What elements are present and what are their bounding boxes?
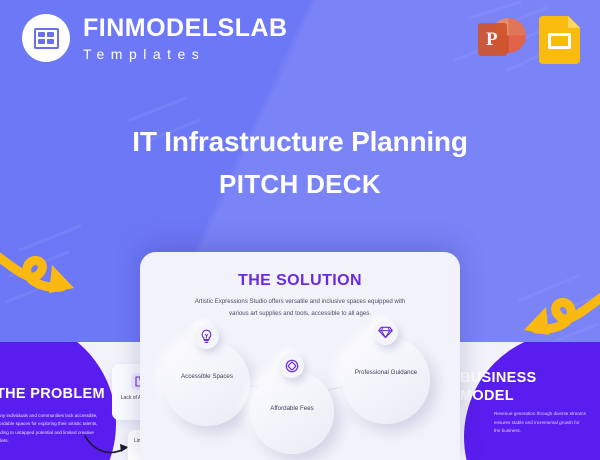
business-model-body: Revenue generation through diverse strea… (494, 410, 586, 436)
solution-slide: THE SOLUTION Artistic Expressions Studio… (140, 252, 460, 460)
page-subtitle: PITCH DECK (0, 169, 600, 200)
brand-header: FINMODELSLAB Templates (22, 14, 288, 62)
solution-bubble-label-2: Affordable Fees (250, 404, 334, 414)
format-badges: P (478, 16, 580, 64)
lightbulb-icon (194, 324, 219, 349)
google-slides-badge (539, 16, 580, 64)
solution-bubble-accessible-spaces: Accessible Spaces (164, 340, 250, 426)
brand-name: FINMODELSLAB (83, 16, 288, 41)
solution-title: THE SOLUTION (140, 272, 460, 290)
solution-bubble-affordable-fees: Affordable Fees (250, 370, 334, 454)
solution-bubble-label-3: Professional Guidance (342, 368, 430, 378)
brand-text: FINMODELSLAB Templates (83, 16, 288, 61)
grid-icon (34, 28, 59, 49)
solution-bubble-label-1: Accessible Spaces (164, 372, 250, 382)
business-model-title: BUSINESS MODEL (460, 369, 556, 405)
solution-body: Artistic Expressions Studio offers versa… (188, 296, 412, 320)
solution-bubble-professional-guidance: Professional Guidance (342, 336, 430, 424)
powerpoint-tile-icon: P (478, 23, 507, 56)
curved-arrow-right-icon (0, 243, 98, 313)
circle-gem-icon (279, 353, 304, 378)
page-title: IT Infrastructure Planning (0, 126, 600, 158)
small-curved-arrow-icon (84, 434, 132, 458)
diamond-icon (373, 320, 398, 345)
slide-canvas: FINMODELSLAB Templates P IT Infrastructu… (0, 0, 600, 460)
powerpoint-letter: P (486, 29, 498, 51)
brand-tagline: Templates (83, 47, 288, 61)
slides-screen-icon (548, 33, 571, 49)
powerpoint-badge: P (478, 16, 526, 64)
problem-title: THE PROBLEM (0, 386, 118, 402)
brand-logo (22, 14, 70, 62)
